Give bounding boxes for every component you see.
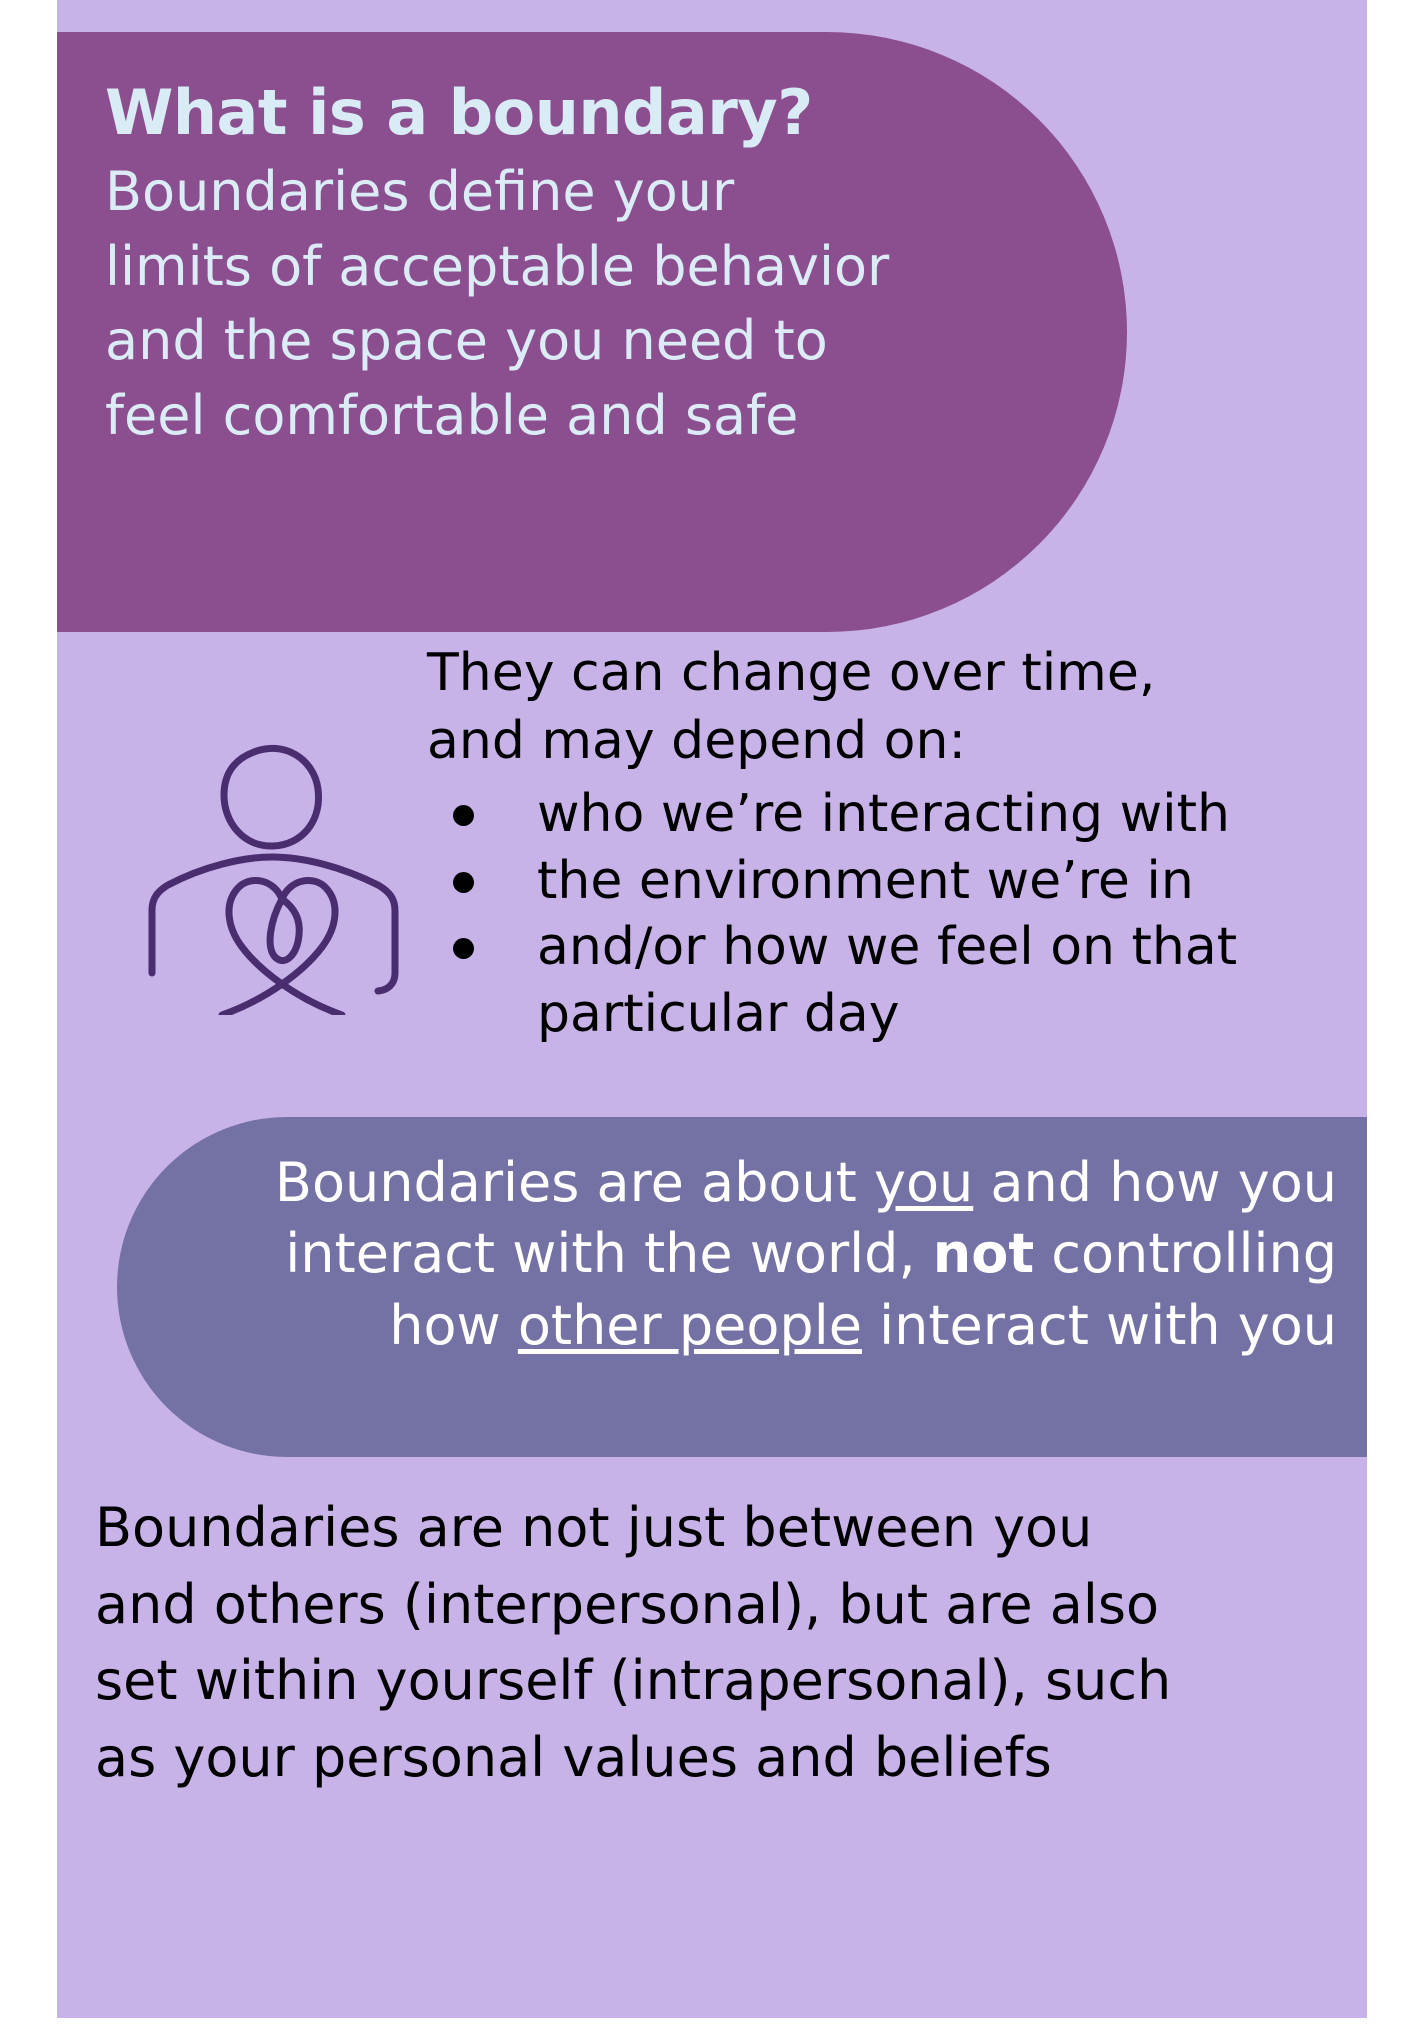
bullet-dot-icon (453, 805, 474, 826)
list-item: the environment we’re in (427, 848, 1357, 915)
closing-line-1: Boundaries are not just between you (95, 1490, 1355, 1567)
header-line-3: and the space you need to (105, 304, 1127, 379)
bullet-dot-icon (453, 872, 474, 893)
list-item-label: the environment we’re in (537, 848, 1357, 915)
closing-line-3: set within yourself (intrapersonal), suc… (95, 1643, 1355, 1720)
emphasis-line-2-a: interact with the world, (285, 1222, 932, 1285)
emphasis-line-2-b: controlling (1034, 1222, 1337, 1285)
list-item-label-cont: particular day (537, 981, 1357, 1048)
page-title: What is a boundary? (105, 80, 1127, 145)
emphasis-band: Boundaries are about you and how you int… (117, 1117, 1367, 1457)
middle-section: They can change over time, and may depen… (57, 640, 1367, 1140)
emphasis-line-3-b: interact with you (862, 1294, 1337, 1357)
emphasis-underline-other-people: other people (518, 1294, 862, 1357)
emphasis-line-3: how other people interact with you (117, 1290, 1337, 1361)
emphasis-text: Boundaries are about you and how you int… (117, 1147, 1337, 1361)
closing-line-2: and others (interpersonal), but are also (95, 1567, 1355, 1644)
middle-lead-line-1: They can change over time, (427, 640, 1357, 708)
emphasis-line-1-a: Boundaries are about (275, 1151, 874, 1214)
bullet-dot-icon (453, 938, 474, 959)
emphasis-line-3-a: how (389, 1294, 518, 1357)
dependency-bullet-list: who we’re interacting with the environme… (427, 781, 1357, 1047)
person-hugging-heart-icon (142, 685, 427, 1015)
list-item: who we’re interacting with (427, 781, 1357, 848)
emphasis-line-1: Boundaries are about you and how you (117, 1147, 1337, 1218)
middle-lead-line-2: and may depend on: (427, 708, 1357, 776)
header-line-4: feel comfortable and safe (105, 379, 1127, 454)
emphasis-line-1-b: and how you (973, 1151, 1337, 1214)
closing-paragraph: Boundaries are not just between you and … (95, 1490, 1355, 1797)
list-item-label: and/or how we feel on that (537, 914, 1357, 981)
list-item-label: who we’re interacting with (537, 781, 1357, 848)
middle-text-block: They can change over time, and may depen… (427, 640, 1357, 1047)
header-description: Boundaries define your limits of accepta… (105, 155, 1127, 453)
emphasis-line-2: interact with the world, not controlling (117, 1218, 1337, 1289)
emphasis-bold-not: not (933, 1222, 1034, 1285)
infographic-poster: What is a boundary? Boundaries define yo… (57, 0, 1367, 2018)
list-item: and/or how we feel on that particular da… (427, 914, 1357, 1047)
header-line-1: Boundaries define your (105, 155, 1127, 230)
emphasis-underline-you: you (874, 1151, 973, 1214)
header-panel: What is a boundary? Boundaries define yo… (57, 32, 1127, 632)
closing-line-4: as your personal values and beliefs (95, 1720, 1355, 1797)
middle-lead-text: They can change over time, and may depen… (427, 640, 1357, 775)
header-line-2: limits of acceptable behavior (105, 230, 1127, 305)
